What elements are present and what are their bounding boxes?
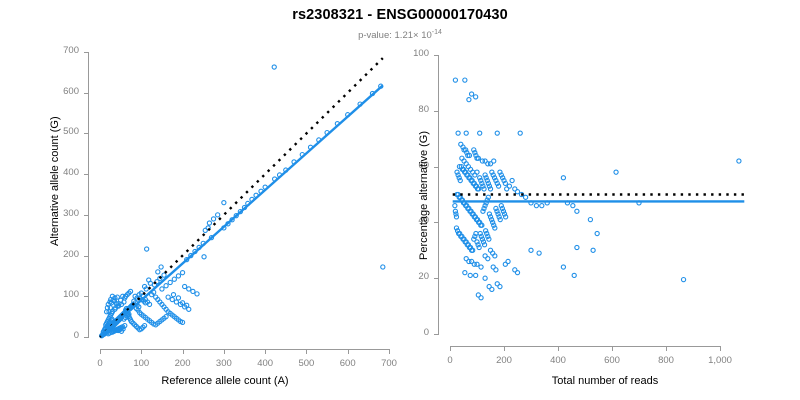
data-point xyxy=(591,248,595,252)
data-point xyxy=(170,297,174,301)
data-point xyxy=(518,131,522,135)
data-point xyxy=(159,265,163,269)
panel-left: 0100200300400500600700010020030040050060… xyxy=(0,0,400,400)
x-axis-title-right: Total number of reads xyxy=(440,375,770,387)
data-point xyxy=(164,284,168,288)
figure-root: rs2308321 - ENSG00000170430 p-value: 1.2… xyxy=(0,0,800,400)
data-point xyxy=(180,271,184,275)
data-point xyxy=(681,278,685,282)
data-point xyxy=(524,195,528,199)
data-point xyxy=(475,262,479,266)
data-point xyxy=(176,274,180,278)
data-point xyxy=(381,265,385,269)
data-point xyxy=(172,277,176,281)
data-point xyxy=(575,245,579,249)
data-point xyxy=(537,251,541,255)
data-point xyxy=(474,273,478,277)
data-layer xyxy=(400,0,800,400)
data-point xyxy=(492,159,496,163)
data-point xyxy=(463,271,467,275)
data-point xyxy=(467,98,471,102)
data-point xyxy=(534,204,538,208)
data-point xyxy=(494,268,498,272)
data-point xyxy=(191,289,195,293)
data-point xyxy=(202,255,206,259)
panel-right: 02040608010002004006008001,000 Percentag… xyxy=(400,0,800,400)
data-point xyxy=(176,296,180,300)
data-point xyxy=(166,295,170,299)
data-point xyxy=(479,265,483,269)
data-point xyxy=(490,287,494,291)
data-point xyxy=(510,178,514,182)
data-point xyxy=(222,201,226,205)
data-point xyxy=(486,257,490,261)
data-point xyxy=(506,259,510,263)
data-point xyxy=(187,287,191,291)
data-point xyxy=(160,287,164,291)
data-point xyxy=(453,78,457,82)
y-axis-title-left: Alternative allele count (G) xyxy=(49,116,61,246)
data-point xyxy=(456,131,460,135)
data-point xyxy=(174,300,178,304)
data-point xyxy=(454,215,458,219)
data-point xyxy=(211,217,215,221)
data-point xyxy=(575,209,579,213)
data-point xyxy=(478,131,482,135)
data-point xyxy=(515,271,519,275)
data-point xyxy=(168,280,172,284)
data-point xyxy=(464,131,468,135)
data-point xyxy=(272,65,276,69)
data-point xyxy=(588,218,592,222)
data-point xyxy=(495,131,499,135)
data-point xyxy=(483,276,487,280)
data-point xyxy=(463,78,467,82)
data-point xyxy=(145,247,149,251)
data-point xyxy=(529,248,533,252)
data-point xyxy=(183,284,187,288)
data-point xyxy=(162,273,166,277)
fit-line xyxy=(101,85,383,336)
data-point xyxy=(187,307,191,311)
data-point xyxy=(561,176,565,180)
data-point xyxy=(507,184,511,188)
x-axis-title-left: Reference allele count (A) xyxy=(60,375,390,387)
data-point xyxy=(498,284,502,288)
data-point xyxy=(737,159,741,163)
data-point xyxy=(453,204,457,208)
data-point xyxy=(515,190,519,194)
data-point xyxy=(207,221,211,225)
reference-line xyxy=(100,58,383,337)
data-point xyxy=(468,273,472,277)
data-point xyxy=(470,92,474,96)
y-axis-title-right: Percentage alternative (G) xyxy=(418,131,430,260)
data-point xyxy=(216,213,220,217)
data-point xyxy=(195,292,199,296)
data-point xyxy=(474,95,478,99)
data-point xyxy=(561,265,565,269)
data-point xyxy=(479,296,483,300)
data-point xyxy=(595,231,599,235)
data-point xyxy=(171,293,175,297)
data-point xyxy=(540,204,544,208)
data-point xyxy=(571,204,575,208)
data-point xyxy=(614,170,618,174)
data-point xyxy=(156,270,160,274)
data-point xyxy=(572,273,576,277)
